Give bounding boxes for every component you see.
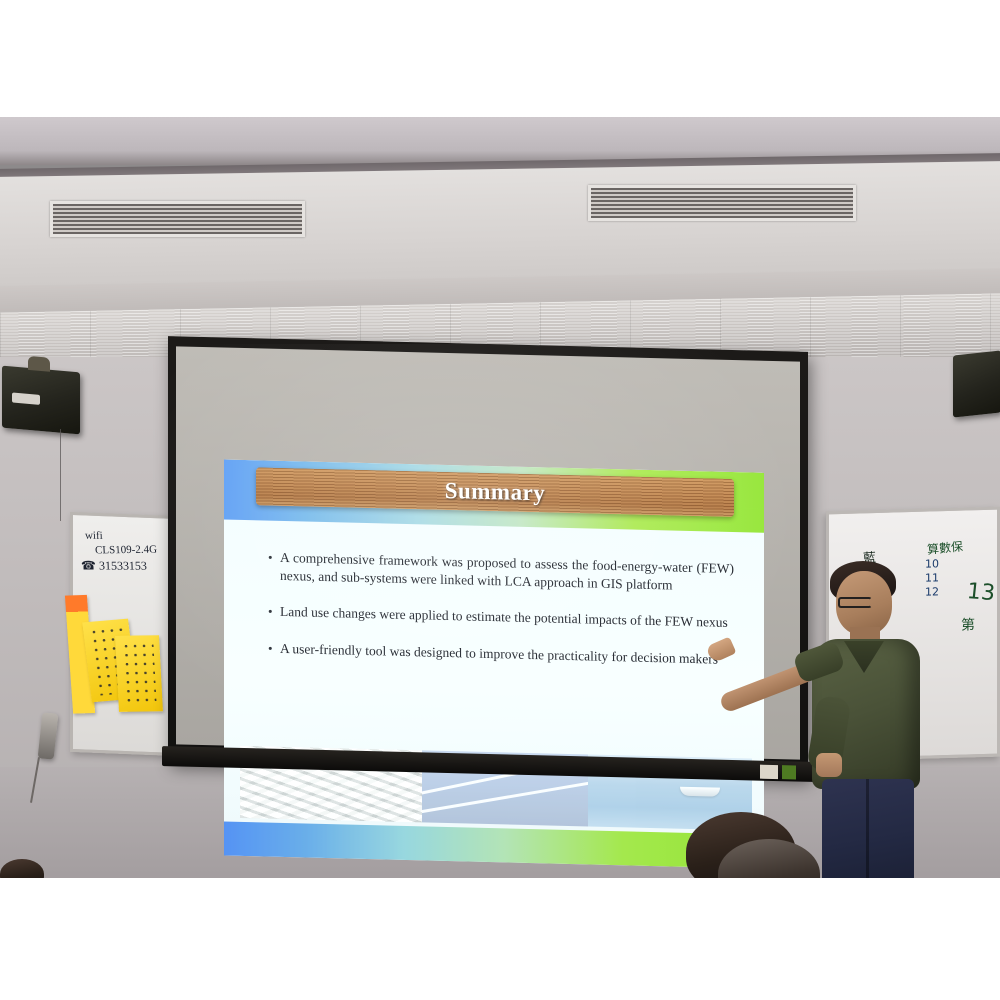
glasses-icon (838, 597, 872, 608)
slide-bullet-text: A user-friendly tool was designed to imp… (280, 639, 734, 668)
slide-bullet-text: Land use changes were applied to estimat… (280, 603, 734, 632)
bullet-marker-icon: • (268, 549, 280, 584)
speaker-label (12, 392, 40, 404)
mic-hand (816, 753, 842, 777)
wifi-ssid-text: CLS109-2.4G (95, 544, 158, 557)
lecture-photo: wifi CLS109-2.4G ☎ 31533153 藍 艶 林 算數保 10… (0, 117, 1000, 878)
wifi-label-text: wifi (85, 530, 103, 542)
sticky-note (115, 635, 163, 712)
boat-shape (680, 787, 720, 797)
slide-bullet-item: • Land use changes were applied to estim… (268, 603, 734, 632)
photo-page: wifi CLS109-2.4G ☎ 31533153 藍 艶 林 算數保 10… (0, 0, 1000, 1000)
phone-number-text: ☎ 31533153 (81, 558, 147, 573)
slide-bullet-text: A comprehensive framework was proposed t… (280, 549, 734, 595)
speaker-bracket (28, 356, 50, 372)
presentation-slide: Summary • A comprehensive framework was … (224, 460, 764, 869)
presenter (786, 547, 956, 878)
air-vent-left (50, 201, 305, 237)
whiteboard-mark: 13 (966, 579, 996, 606)
screen-surface: Summary • A comprehensive framework was … (176, 346, 800, 759)
bullet-marker-icon: • (268, 639, 280, 657)
roller-tab (760, 765, 778, 779)
wall-speaker-left (2, 366, 80, 435)
sticky-note-text (121, 641, 156, 705)
whiteboard-left: wifi CLS109-2.4G ☎ 31533153 (70, 512, 180, 756)
air-vent-right (588, 185, 856, 221)
whiteboard-char: 第 (961, 614, 975, 634)
slide-bullet-item: • A user-friendly tool was designed to i… (268, 639, 734, 668)
wall-speaker-right (953, 350, 1000, 417)
bullet-marker-icon: • (268, 603, 280, 621)
presenter-pants (822, 779, 914, 878)
projection-screen: Summary • A comprehensive framework was … (168, 336, 808, 778)
pants-seam (866, 779, 869, 878)
panel-edge (422, 777, 588, 816)
slide-bullet-list: • A comprehensive framework was proposed… (268, 549, 734, 687)
hanging-wire (60, 429, 61, 521)
slide-bullet-item: • A comprehensive framework was proposed… (268, 549, 734, 595)
